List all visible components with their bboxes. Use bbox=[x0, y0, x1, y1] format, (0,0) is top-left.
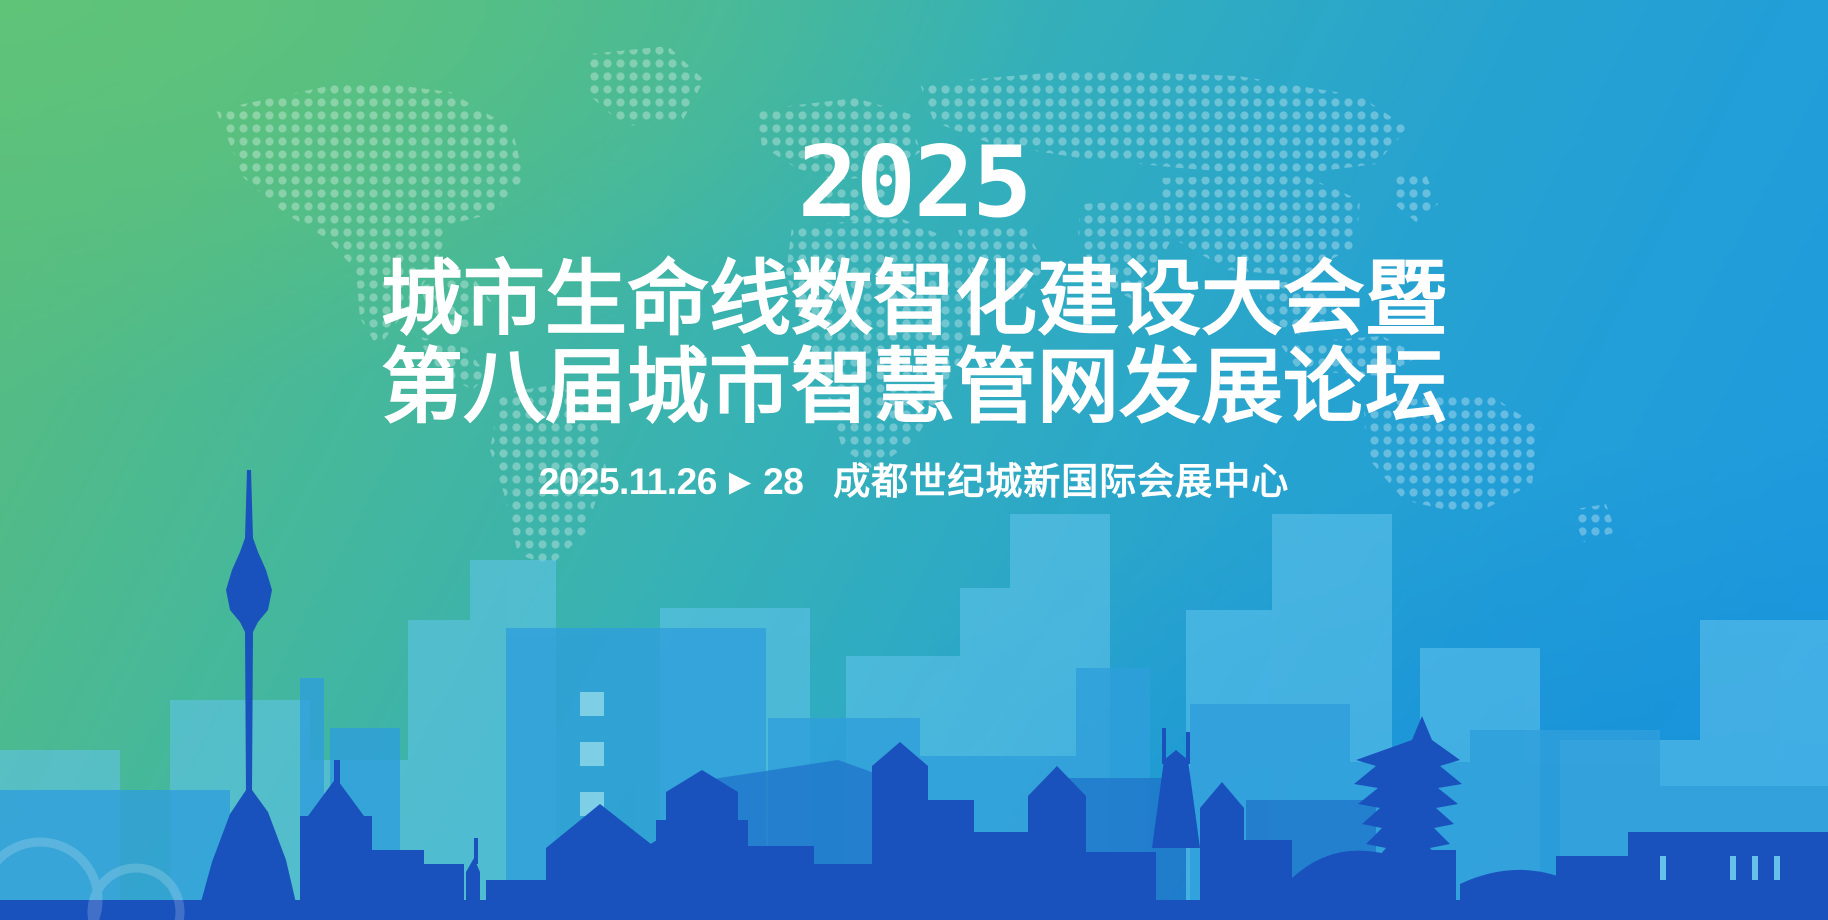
event-date-end: 28 bbox=[763, 463, 803, 500]
conference-title-line-2: 第八届城市智慧管网发展论坛 bbox=[0, 346, 1828, 430]
year-heading: 2025 bbox=[0, 134, 1828, 232]
decorative-circles-icon bbox=[0, 750, 210, 920]
event-date-start: 2025.11.26 bbox=[539, 463, 717, 500]
date-range-arrow-icon: ▶ bbox=[729, 468, 751, 497]
event-meta: 2025.11.26 ▶ 28 成都世纪城新国际会展中心 bbox=[539, 463, 1290, 500]
event-venue: 成都世纪城新国际会展中心 bbox=[833, 463, 1289, 500]
conference-title-line-1: 城市生命线数智化建设大会暨 bbox=[0, 258, 1828, 342]
city-skyline-illustration bbox=[0, 460, 1828, 920]
banner-content: 2025 城市生命线数智化建设大会暨 第八届城市智慧管网发展论坛 2025.11… bbox=[0, 0, 1828, 500]
conference-banner: 2025 城市生命线数智化建设大会暨 第八届城市智慧管网发展论坛 2025.11… bbox=[0, 0, 1828, 920]
